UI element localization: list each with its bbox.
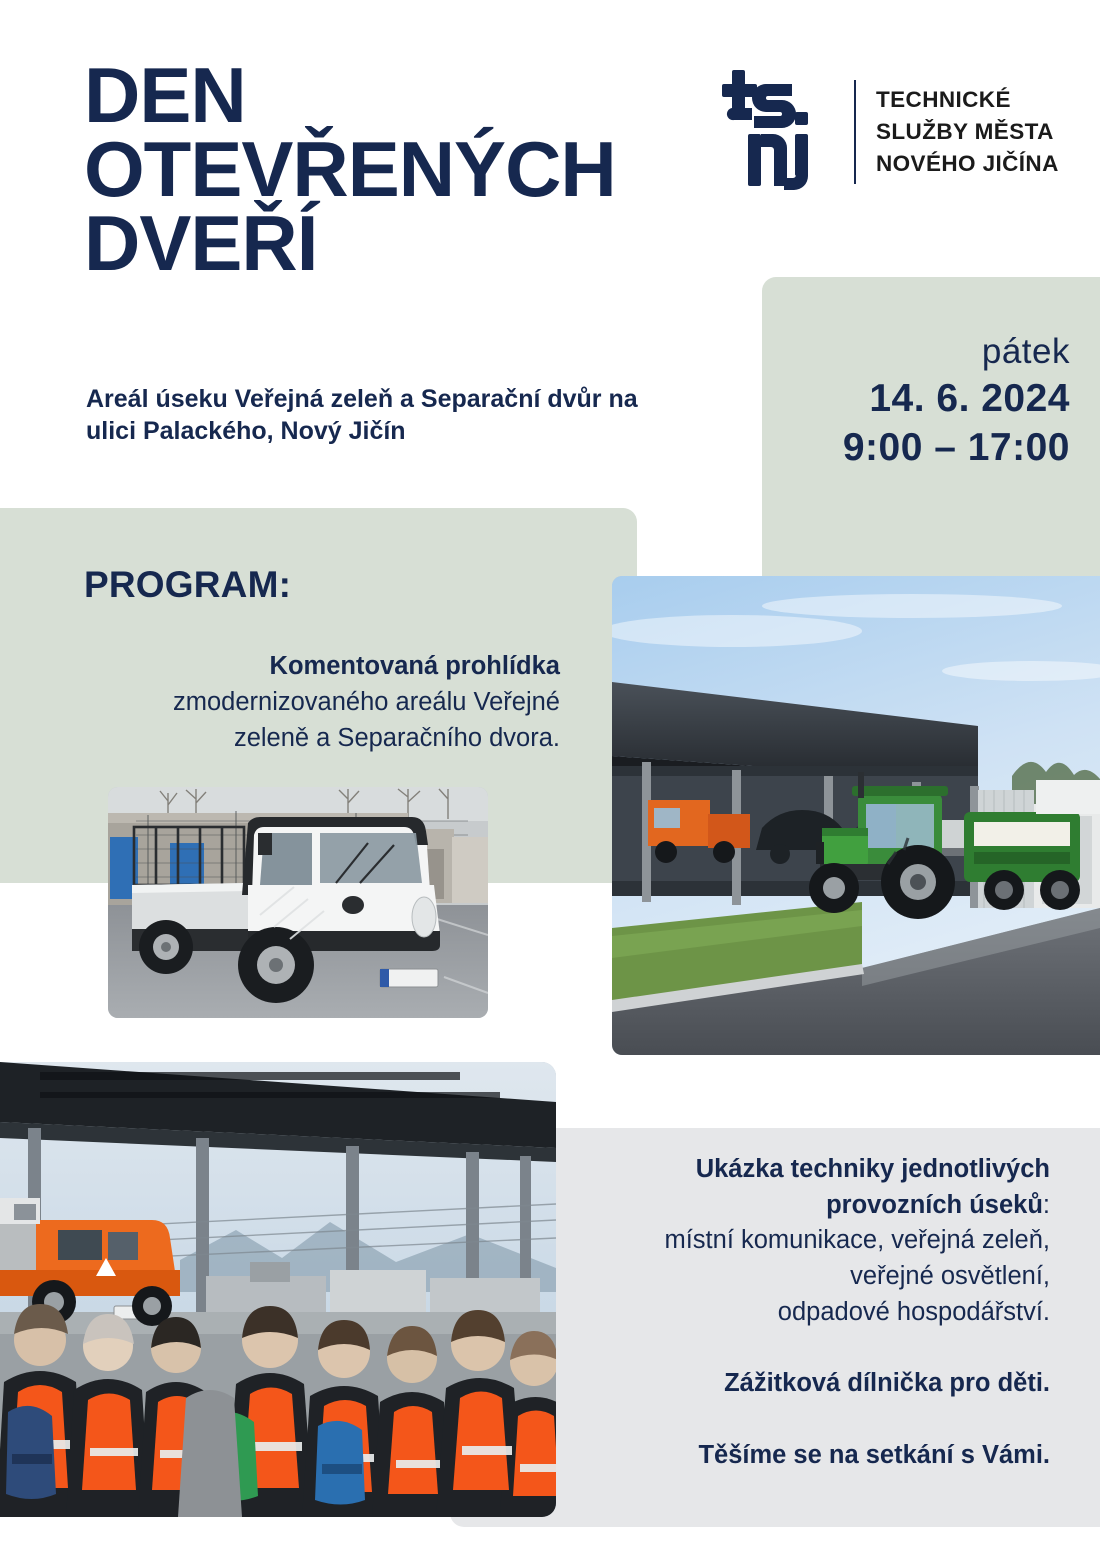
info-lead-line-2: provozních úseků [826, 1191, 1043, 1219]
program-item-line-2: zeleně a Separačního dvora. [234, 724, 560, 752]
program-heading: PROGRAM: [84, 564, 291, 606]
photo-tractor-depot [612, 576, 1100, 1055]
logo-text-line-3: NOVÉHO JIČÍNA [876, 148, 1059, 180]
info-text-block: Ukázka techniky jednotlivých provozních … [580, 1152, 1050, 1474]
info-list-line-1: místní komunikace, veřejná zeleň, [580, 1223, 1050, 1259]
logo-wordmark: TECHNICKÉ SLUŽBY MĚSTA NOVÉHO JIČÍNA [876, 84, 1059, 181]
logo-text-line-2: SLUŽBY MĚSTA [876, 116, 1059, 148]
info-list-line-2: veřejné osvětlení, [580, 1259, 1050, 1295]
info-spacer-2 [580, 1402, 1050, 1438]
program-item-title: Komentovaná prohlídka [60, 648, 560, 684]
title-line-3: DVEŘÍ [84, 206, 744, 280]
logo-text-line-1: TECHNICKÉ [876, 84, 1059, 116]
venue-subtitle: Areál úseku Veřejná zeleň a Separační dv… [86, 383, 646, 447]
photo-utility-truck [108, 787, 488, 1018]
info-lead-line-2-wrap: provozních úseků: [580, 1188, 1050, 1224]
ts-nj-monogram-icon [722, 68, 834, 196]
info-spacer-1 [580, 1330, 1050, 1366]
logo-divider [854, 80, 856, 184]
program-item: Komentovaná prohlídka zmodernizovaného a… [60, 648, 560, 757]
info-workshop: Zážitková dílnička pro děti. [580, 1366, 1050, 1402]
title-line-1: DEN [84, 58, 744, 132]
photo-visitor-group [0, 1062, 556, 1517]
info-list-line-3: odpadové hospodářství. [580, 1295, 1050, 1331]
title-line-2: OTEVŘENÝCH [84, 132, 744, 206]
info-lead-line-1: Ukázka techniky jednotlivých [580, 1152, 1050, 1188]
program-item-line-1: zmodernizovaného areálu Veřejné [173, 688, 560, 716]
poster-root: DEN OTEVŘENÝCH DVEŘÍ Areál úseku Veřejná… [0, 0, 1100, 1556]
organisation-logo: TECHNICKÉ SLUŽBY MĚSTA NOVÉHO JIČÍNA [722, 68, 1059, 196]
info-lead-colon: : [1043, 1191, 1050, 1219]
event-datetime: pátek 14. 6. 2024 9:00 – 17:00 [770, 330, 1070, 473]
page-title: DEN OTEVŘENÝCH DVEŘÍ [84, 58, 744, 280]
event-date: 14. 6. 2024 [770, 374, 1070, 424]
event-weekday: pátek [770, 330, 1070, 374]
event-time-range: 9:00 – 17:00 [770, 423, 1070, 473]
info-closing: Těšíme se na setkání s Vámi. [580, 1438, 1050, 1474]
